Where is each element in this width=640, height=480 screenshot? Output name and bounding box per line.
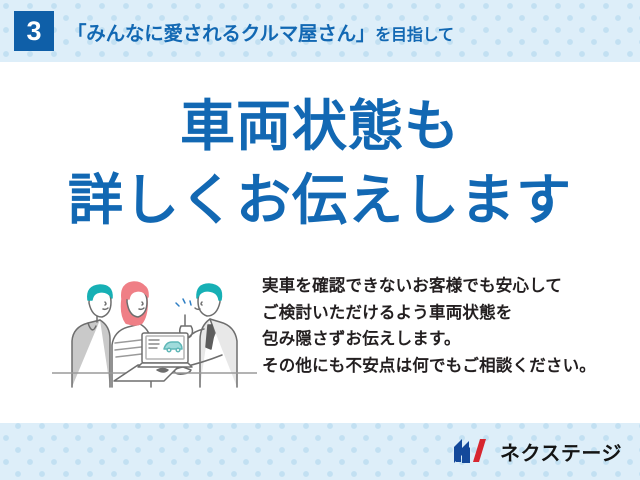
headline: 車両状態も 詳しくお伝えします <box>0 90 640 237</box>
header-title-tail: を目指して <box>375 27 454 44</box>
nextage-n-logo-icon <box>453 438 493 464</box>
lower-row: 実車を確認できないお客様でも安心して ご検討いただけるよう車両状態を 包み隠さず… <box>0 267 640 402</box>
consultation-illustration <box>52 269 257 389</box>
body-copy: 実車を確認できないお客様でも安心して ご検討いただけるよう車両状態を 包み隠さず… <box>262 273 622 380</box>
promotional-banner: 3 「みんなに愛されるクルマ屋さん」を目指して 車両状態も 詳しくお伝えします <box>0 0 640 480</box>
body-copy-line-1: 実車を確認できないお客様でも安心して <box>262 273 622 300</box>
banner-header: 3 「みんなに愛されるクルマ屋さん」を目指して <box>0 0 640 62</box>
brand-wordmark: ネクステージ <box>500 437 622 466</box>
headline-line-2: 詳しくお伝えします <box>0 164 640 238</box>
header-title: 「みんなに愛されるクルマ屋さん」を目指して <box>67 17 454 46</box>
step-number-badge: 3 <box>14 11 54 51</box>
content-card: 車両状態も 詳しくお伝えします <box>0 62 640 423</box>
body-copy-line-2: ご検討いただけるよう車両状態を <box>262 300 622 327</box>
body-copy-line-3: 包み隠さずお伝えします。 <box>262 326 622 353</box>
brand-logo: ネクステージ <box>453 436 622 466</box>
body-copy-line-4: その他にも不安点は何でもご相談ください。 <box>262 353 622 380</box>
header-title-main: 「みんなに愛されるクルマ屋さん」 <box>67 23 375 45</box>
headline-line-1: 車両状態も <box>0 90 640 164</box>
